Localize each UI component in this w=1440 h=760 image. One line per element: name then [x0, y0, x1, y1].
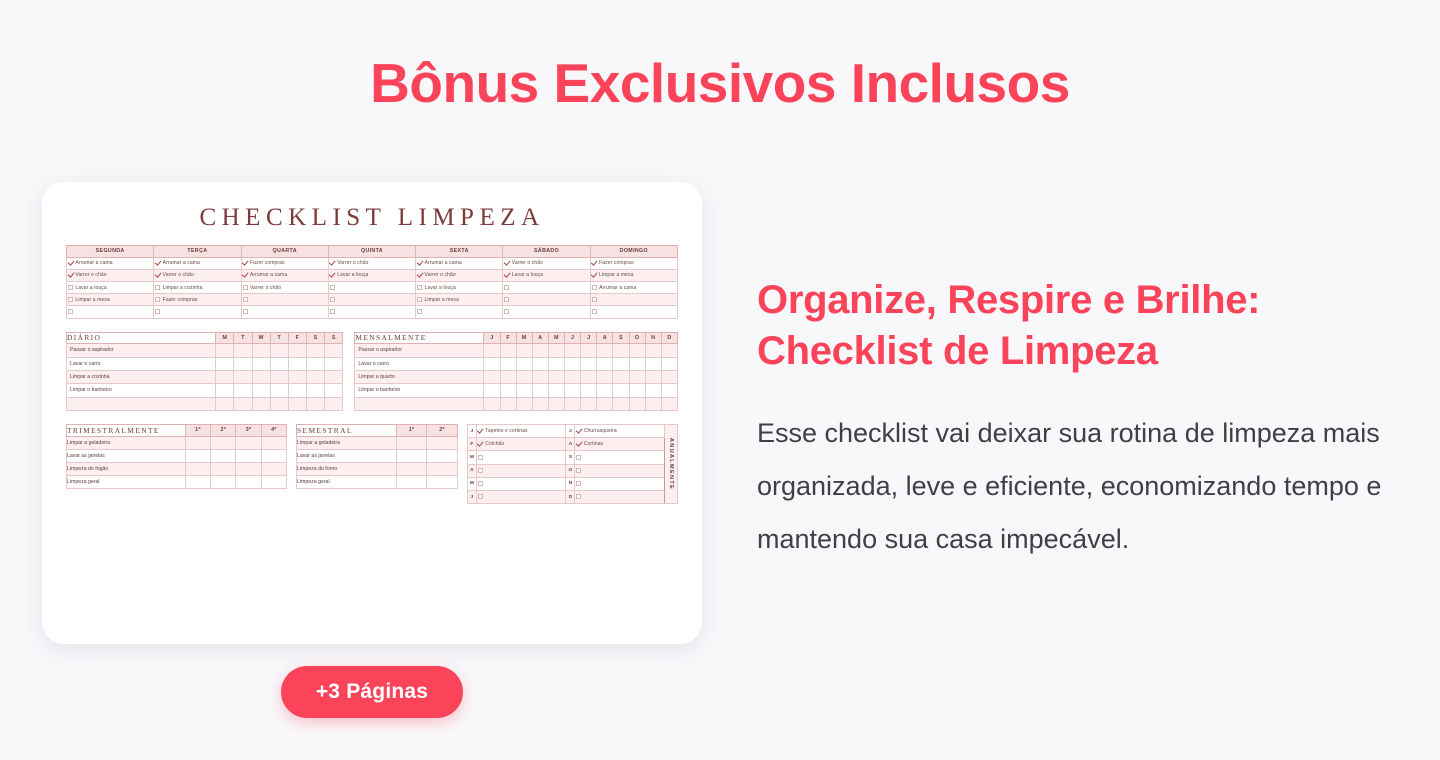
checklist-task-cell[interactable]: Varrer o chão	[154, 269, 241, 281]
checklist-task-label: Churrasqueira	[584, 428, 617, 434]
daily-cell[interactable]	[325, 370, 343, 383]
checkbox-icon[interactable]	[592, 297, 597, 302]
monthly-cell[interactable]	[500, 344, 516, 357]
table-row: Limpar o banheiro	[67, 384, 343, 397]
checkbox-icon[interactable]	[504, 297, 509, 302]
weekly-table: SEGUNDATERÇAQUARTAQUINTASEXTASÁBADODOMIN…	[66, 245, 678, 319]
biannual-row-label: Limpeza geral	[297, 476, 397, 489]
checklist-task-label: Arrumar a cama	[599, 285, 636, 291]
checkbox-icon[interactable]	[504, 285, 509, 290]
checkbox-icon[interactable]	[155, 309, 160, 314]
check-mark-icon[interactable]	[592, 273, 597, 278]
checklist-task-cell[interactable]: Fazer compras	[241, 257, 328, 269]
daily-col-6: S	[307, 332, 325, 344]
quarterly-cell[interactable]	[211, 449, 236, 462]
monthly-cell[interactable]	[581, 370, 597, 383]
monthly-cell[interactable]	[532, 357, 548, 370]
checklist-task-label: Limpar a mesa	[425, 297, 459, 303]
daily-cell[interactable]	[270, 370, 288, 383]
checklist-task-label: Varrer o chão	[75, 272, 106, 278]
checklist-task-cell[interactable]: Arrumar a cama	[154, 257, 241, 269]
annual-month-right: J	[566, 425, 575, 438]
check-mark-icon[interactable]	[576, 428, 581, 433]
quarterly-title: TRIMESTRALMENTE	[67, 425, 186, 437]
annual-table: JTapetes e cortinasJChurrasqueiraANUALME…	[467, 424, 678, 504]
checklist-task-cell[interactable]: Fazer compras	[154, 294, 241, 306]
table-row: Limpar a geladeira	[297, 436, 458, 449]
monthly-cell[interactable]	[597, 370, 613, 383]
monthly-cell[interactable]	[565, 397, 581, 410]
monthly-block: MENSALMENTEJFMAMJJASOND Passar o aspirad…	[354, 332, 678, 412]
check-mark-icon[interactable]	[417, 260, 422, 265]
checkbox-icon[interactable]	[592, 285, 597, 290]
daily-cell[interactable]	[252, 397, 270, 410]
monthly-col-1: J	[484, 332, 500, 344]
checklist-task-label: Varrer o chão	[163, 272, 194, 278]
monthly-col-11: N	[645, 332, 661, 344]
checklist-task-cell[interactable]: Varrer o chão	[416, 269, 503, 281]
daily-cell[interactable]	[234, 344, 252, 357]
monthly-cell[interactable]	[484, 384, 500, 397]
checkbox-icon[interactable]	[68, 297, 73, 302]
annual-block: JTapetes e cortinasJChurrasqueiraANUALME…	[467, 424, 678, 504]
biannual-cell[interactable]	[427, 449, 458, 462]
quarterly-cell[interactable]	[261, 449, 286, 462]
check-mark-icon[interactable]	[330, 273, 335, 278]
annual-vertical-label: ANUALMENTE	[665, 425, 678, 504]
checklist-task-label: Lavar a louça	[337, 272, 368, 278]
annual-month-left: M	[467, 477, 476, 490]
checklist-task-cell[interactable]	[575, 451, 665, 464]
feature-heading: Organize, Respire e Brilhe: Checklist de…	[757, 275, 1407, 377]
daily-cell[interactable]	[307, 384, 325, 397]
monthly-cell[interactable]	[516, 344, 532, 357]
monthly-cell[interactable]	[484, 357, 500, 370]
checklist-task-label: Lavar a louça	[75, 285, 106, 291]
daily-cell[interactable]	[325, 397, 343, 410]
monthly-cell[interactable]	[597, 397, 613, 410]
monthly-cell[interactable]	[548, 384, 564, 397]
checklist-task-cell[interactable]	[476, 491, 566, 504]
monthly-cell[interactable]	[629, 357, 645, 370]
weekly-table-header: SEGUNDATERÇAQUARTAQUINTASEXTASÁBADODOMIN…	[67, 246, 678, 258]
daily-row-label: Limpar a cozinha	[67, 370, 216, 383]
monthly-cell[interactable]	[597, 357, 613, 370]
checklist-task-label: Limpar a mesa	[599, 272, 633, 278]
monthly-col-3: M	[516, 332, 532, 344]
checkbox-icon[interactable]	[330, 285, 335, 290]
biannual-block: SEMESTRAL1º2º Limpar a geladeiraLavar as…	[296, 424, 458, 504]
checklist-task-cell[interactable]: Cortinas	[575, 438, 665, 451]
quarterly-col-3: 3º	[236, 425, 261, 437]
weekday-header-7: DOMINGO	[590, 246, 677, 258]
table-row	[67, 397, 343, 410]
weekday-header-5: SEXTA	[416, 246, 503, 258]
checklist-task-cell[interactable]: Limpar a cozinha	[154, 281, 241, 293]
monthly-cell[interactable]	[581, 384, 597, 397]
biannual-cell[interactable]	[427, 463, 458, 476]
table-row: Passar o aspirador	[67, 344, 343, 357]
daily-cell[interactable]	[216, 397, 234, 410]
checklist-task-cell[interactable]	[416, 306, 503, 318]
checklist-task-cell[interactable]	[328, 281, 415, 293]
checklist-task-cell[interactable]: Limpar a mesa	[416, 294, 503, 306]
monthly-cell[interactable]	[645, 370, 661, 383]
monthly-cell[interactable]	[597, 384, 613, 397]
daily-cell[interactable]	[288, 397, 306, 410]
checklist-task-label: Fazer compras	[250, 260, 285, 266]
checklist-task-cell[interactable]	[575, 464, 665, 477]
monthly-cell[interactable]	[597, 344, 613, 357]
check-mark-icon[interactable]	[592, 260, 597, 265]
quarterly-table: TRIMESTRALMENTE1º2º3º4º Limpar a geladei…	[66, 424, 287, 489]
monthly-cell[interactable]	[613, 384, 629, 397]
monthly-cell[interactable]	[581, 357, 597, 370]
daily-col-2: T	[234, 332, 252, 344]
biannual-row-label: Limpar a geladeira	[297, 436, 397, 449]
annual-month-right: N	[566, 477, 575, 490]
checklist-task-cell[interactable]: Varrer o chão	[328, 257, 415, 269]
monthly-cell[interactable]	[645, 384, 661, 397]
monthly-title: MENSALMENTE	[355, 332, 484, 344]
quarterly-cell[interactable]	[236, 436, 261, 449]
monthly-cell[interactable]	[500, 384, 516, 397]
quarterly-cell[interactable]	[236, 476, 261, 489]
checklist-task-cell[interactable]	[476, 477, 566, 490]
checklist-task-label: Varrer o chão	[250, 285, 281, 291]
daily-col-1: M	[216, 332, 234, 344]
monthly-cell[interactable]	[500, 370, 516, 383]
daily-cell[interactable]	[234, 397, 252, 410]
table-row: FColchãoACortinas	[467, 438, 677, 451]
monthly-cell[interactable]	[484, 344, 500, 357]
monthly-cell[interactable]	[645, 397, 661, 410]
daily-cell[interactable]	[307, 357, 325, 370]
feature-heading-line-2: Checklist de Limpeza	[757, 326, 1407, 377]
checklist-task-label: Varrer o chão	[425, 272, 456, 278]
check-mark-icon[interactable]	[243, 260, 248, 265]
annual-month-right: D	[566, 491, 575, 504]
table-row: AO	[467, 464, 677, 477]
checklist-task-cell[interactable]	[503, 281, 590, 293]
check-mark-icon[interactable]	[155, 273, 160, 278]
monthly-cell[interactable]	[613, 357, 629, 370]
monthly-cell[interactable]	[581, 397, 597, 410]
daily-cell[interactable]	[307, 370, 325, 383]
daily-cell[interactable]	[270, 397, 288, 410]
checklist-task-label: Lavar a louça	[425, 285, 456, 291]
monthly-cell[interactable]	[500, 357, 516, 370]
checkbox-icon[interactable]	[478, 494, 483, 499]
daily-cell[interactable]	[307, 397, 325, 410]
monthly-cell[interactable]	[565, 357, 581, 370]
checkbox-icon[interactable]	[478, 468, 483, 473]
monthly-cell[interactable]	[565, 384, 581, 397]
quarterly-col-2: 2º	[211, 425, 236, 437]
daily-cell[interactable]	[234, 357, 252, 370]
quarterly-row-label: Limpeza do fogão	[67, 463, 186, 476]
daily-cell[interactable]	[216, 384, 234, 397]
monthly-cell[interactable]	[532, 344, 548, 357]
checklist-task-cell[interactable]: Varrer o chão	[241, 281, 328, 293]
checkbox-icon[interactable]	[417, 309, 422, 314]
quarterly-cell[interactable]	[211, 463, 236, 476]
monthly-cell[interactable]	[516, 357, 532, 370]
checkbox-icon[interactable]	[330, 297, 335, 302]
checklist-task-label: Arrumar a cama	[75, 260, 112, 266]
monthly-cell[interactable]	[548, 397, 564, 410]
badge-row: +3 Páginas	[42, 666, 702, 718]
table-row	[67, 306, 678, 318]
biannual-cell[interactable]	[427, 436, 458, 449]
table-row: Limpar a mesaFazer comprasLimpar a mesa	[67, 294, 678, 306]
daily-col-4: T	[270, 332, 288, 344]
check-mark-icon[interactable]	[504, 273, 509, 278]
daily-cell[interactable]	[216, 357, 234, 370]
monthly-row-label: Lavar o carro	[355, 357, 484, 370]
monthly-cell[interactable]	[629, 344, 645, 357]
monthly-cell[interactable]	[532, 384, 548, 397]
check-mark-icon[interactable]	[68, 260, 73, 265]
checklist-task-label: Colchão	[485, 441, 504, 447]
daily-cell[interactable]	[216, 370, 234, 383]
checkbox-icon[interactable]	[417, 297, 422, 302]
bottom-band: TRIMESTRALMENTE1º2º3º4º Limpar a geladei…	[66, 424, 678, 504]
daily-col-3: W	[252, 332, 270, 344]
daily-cell[interactable]	[288, 370, 306, 383]
checklist-task-cell[interactable]: Lavar a louça	[503, 269, 590, 281]
checkbox-icon[interactable]	[576, 481, 581, 486]
monthly-cell[interactable]	[645, 344, 661, 357]
monthly-cell[interactable]	[613, 370, 629, 383]
checklist-task-cell[interactable]: Arrumar a cama	[590, 281, 677, 293]
checklist-task-cell[interactable]	[575, 477, 665, 490]
weekday-header-1: SEGUNDA	[67, 246, 154, 258]
monthly-col-10: O	[629, 332, 645, 344]
monthly-cell[interactable]	[629, 384, 645, 397]
biannual-cell[interactable]	[396, 436, 427, 449]
checklist-task-label: Arrumar a cama	[250, 272, 287, 278]
monthly-cell[interactable]	[661, 384, 677, 397]
checkbox-icon[interactable]	[478, 455, 483, 460]
quarterly-cell[interactable]	[185, 436, 210, 449]
checklist-preview-card: CHECKLIST LIMPEZA SEGUNDATERÇAQUARTAQUIN…	[42, 182, 702, 644]
check-mark-icon[interactable]	[478, 428, 483, 433]
monthly-cell[interactable]	[613, 397, 629, 410]
annual-month-left: F	[467, 438, 476, 451]
quarterly-cell[interactable]	[211, 476, 236, 489]
biannual-cell[interactable]	[396, 476, 427, 489]
checklist-task-cell[interactable]	[328, 306, 415, 318]
check-mark-icon[interactable]	[155, 260, 160, 265]
checkbox-icon[interactable]	[68, 285, 73, 290]
monthly-cell[interactable]	[548, 357, 564, 370]
quarterly-block: TRIMESTRALMENTE1º2º3º4º Limpar a geladei…	[66, 424, 287, 504]
monthly-cell[interactable]	[629, 370, 645, 383]
monthly-cell[interactable]	[516, 370, 532, 383]
quarterly-cell[interactable]	[185, 463, 210, 476]
checklist-task-cell[interactable]: Fazer compras	[590, 257, 677, 269]
checklist-task-cell[interactable]: Limpar a mesa	[590, 269, 677, 281]
monthly-cell[interactable]	[484, 370, 500, 383]
check-mark-icon[interactable]	[243, 273, 248, 278]
monthly-cell[interactable]	[516, 384, 532, 397]
monthly-cell[interactable]	[661, 357, 677, 370]
monthly-cell[interactable]	[500, 397, 516, 410]
checklist-task-cell[interactable]	[241, 306, 328, 318]
biannual-row-label: Limpeza do forno	[297, 463, 397, 476]
checklist-task-cell[interactable]	[575, 491, 665, 504]
monthly-cell[interactable]	[629, 397, 645, 410]
checkbox-icon[interactable]	[576, 468, 581, 473]
checklist-task-label: Varrer o chão	[512, 260, 543, 266]
checkbox-icon[interactable]	[478, 481, 483, 486]
check-mark-icon[interactable]	[504, 260, 509, 265]
check-mark-icon[interactable]	[68, 273, 73, 278]
quarterly-cell[interactable]	[261, 476, 286, 489]
checklist-task-cell[interactable]	[503, 306, 590, 318]
daily-cell[interactable]	[252, 384, 270, 397]
checkbox-icon[interactable]	[243, 309, 248, 314]
annual-month-left: J	[467, 425, 476, 438]
daily-cell[interactable]	[325, 344, 343, 357]
daily-cell[interactable]	[325, 384, 343, 397]
monthly-cell[interactable]	[548, 370, 564, 383]
daily-cell[interactable]	[325, 357, 343, 370]
quarterly-cell[interactable]	[236, 449, 261, 462]
checkbox-icon[interactable]	[576, 494, 581, 499]
monthly-cell[interactable]	[532, 397, 548, 410]
daily-cell[interactable]	[216, 344, 234, 357]
checkbox-icon[interactable]	[504, 309, 509, 314]
daily-cell[interactable]	[270, 357, 288, 370]
table-row: Lavar as janelas	[67, 449, 287, 462]
check-mark-icon[interactable]	[417, 273, 422, 278]
daily-cell[interactable]	[288, 357, 306, 370]
annual-label-text: ANUALMENTE	[668, 438, 674, 490]
checklist-task-cell[interactable]: Lavar a louça	[328, 269, 415, 281]
check-mark-icon[interactable]	[478, 442, 483, 447]
monthly-cell[interactable]	[661, 344, 677, 357]
annual-month-left: A	[467, 464, 476, 477]
checklist-task-cell[interactable]	[154, 306, 241, 318]
quarterly-cell[interactable]	[261, 463, 286, 476]
checklist-task-cell[interactable]: Lavar a louça	[67, 281, 154, 293]
monthly-col-9: S	[613, 332, 629, 344]
quarterly-cell[interactable]	[185, 476, 210, 489]
quarterly-cell[interactable]	[261, 436, 286, 449]
monthly-cell[interactable]	[661, 370, 677, 383]
table-row	[355, 397, 678, 410]
quarterly-cell[interactable]	[236, 463, 261, 476]
checklist-task-cell[interactable]	[476, 451, 566, 464]
monthly-cell[interactable]	[548, 344, 564, 357]
daily-cell[interactable]	[252, 344, 270, 357]
biannual-title: SEMESTRAL	[297, 425, 397, 437]
checklist-task-cell[interactable]: Churrasqueira	[575, 425, 665, 438]
monthly-cell[interactable]	[484, 397, 500, 410]
weekly-grid: SEGUNDATERÇAQUARTAQUINTASEXTASÁBADODOMIN…	[66, 245, 678, 319]
biannual-cell[interactable]	[427, 476, 458, 489]
checklist-task-cell[interactable]	[590, 294, 677, 306]
check-mark-icon[interactable]	[330, 260, 335, 265]
checkbox-icon[interactable]	[243, 297, 248, 302]
quarterly-cell[interactable]	[185, 449, 210, 462]
checklist-task-cell[interactable]: Arrumar a cama	[67, 257, 154, 269]
check-mark-icon[interactable]	[576, 442, 581, 447]
table-row: Passar o aspirador	[355, 344, 678, 357]
monthly-cell[interactable]	[613, 344, 629, 357]
checkbox-icon[interactable]	[68, 309, 73, 314]
daily-cell[interactable]	[234, 384, 252, 397]
monthly-cell[interactable]	[532, 370, 548, 383]
checklist-task-cell[interactable]: Limpar a mesa	[67, 294, 154, 306]
monthly-cell[interactable]	[645, 357, 661, 370]
daily-cell[interactable]	[270, 384, 288, 397]
middle-band: DIÁRIOMTWTFSS Passar o aspiradorLavar o …	[66, 332, 678, 412]
checklist-task-cell[interactable]	[328, 294, 415, 306]
table-row: Limpar a geladeira	[67, 436, 287, 449]
checkbox-icon[interactable]	[155, 297, 160, 302]
checklist-task-cell[interactable]: Lavar a louça	[416, 281, 503, 293]
monthly-cell[interactable]	[565, 344, 581, 357]
daily-cell[interactable]	[307, 344, 325, 357]
checklist-task-cell[interactable]	[476, 464, 566, 477]
checklist-task-cell[interactable]: Varrer o chão	[67, 269, 154, 281]
checklist-task-cell[interactable]	[67, 306, 154, 318]
daily-col-7: S	[325, 332, 343, 344]
monthly-cell[interactable]	[661, 397, 677, 410]
checkbox-icon[interactable]	[330, 309, 335, 314]
daily-cell[interactable]	[234, 370, 252, 383]
daily-cell[interactable]	[270, 344, 288, 357]
checklist-task-cell[interactable]: Arrumar a cama	[416, 257, 503, 269]
quarterly-cell[interactable]	[211, 436, 236, 449]
checkbox-icon[interactable]	[576, 455, 581, 460]
checklist-task-cell[interactable]: Colchão	[476, 438, 566, 451]
biannual-cell[interactable]	[396, 449, 427, 462]
checkbox-icon[interactable]	[155, 285, 160, 290]
checkbox-icon[interactable]	[592, 309, 597, 314]
monthly-col-7: J	[581, 332, 597, 344]
daily-cell[interactable]	[252, 370, 270, 383]
daily-cell[interactable]	[288, 384, 306, 397]
checklist-task-cell[interactable]	[590, 306, 677, 318]
monthly-cell[interactable]	[581, 344, 597, 357]
monthly-col-5: M	[548, 332, 564, 344]
checkbox-icon[interactable]	[417, 285, 422, 290]
monthly-cell[interactable]	[516, 397, 532, 410]
table-row: Lavar o carro	[355, 357, 678, 370]
extra-pages-badge[interactable]: +3 Páginas	[281, 666, 463, 718]
table-row: JTapetes e cortinasJChurrasqueiraANUALME…	[467, 425, 677, 438]
checklist-task-cell[interactable]: Arrumar a cama	[241, 269, 328, 281]
biannual-cell[interactable]	[396, 463, 427, 476]
monthly-cell[interactable]	[565, 370, 581, 383]
daily-cell[interactable]	[288, 344, 306, 357]
checklist-task-cell[interactable]	[503, 294, 590, 306]
checkbox-icon[interactable]	[243, 285, 248, 290]
table-row: Lavar a louçaLimpar a cozinhaVarrer o ch…	[67, 281, 678, 293]
checklist-task-cell[interactable]: Varrer o chão	[503, 257, 590, 269]
daily-col-5: F	[288, 332, 306, 344]
checklist-task-cell[interactable]: Tapetes e cortinas	[476, 425, 566, 438]
quarterly-col-1: 1º	[185, 425, 210, 437]
daily-cell[interactable]	[252, 357, 270, 370]
daily-row-label: Limpar o banheiro	[67, 384, 216, 397]
table-row: MN	[467, 477, 677, 490]
checklist-task-cell[interactable]	[241, 294, 328, 306]
